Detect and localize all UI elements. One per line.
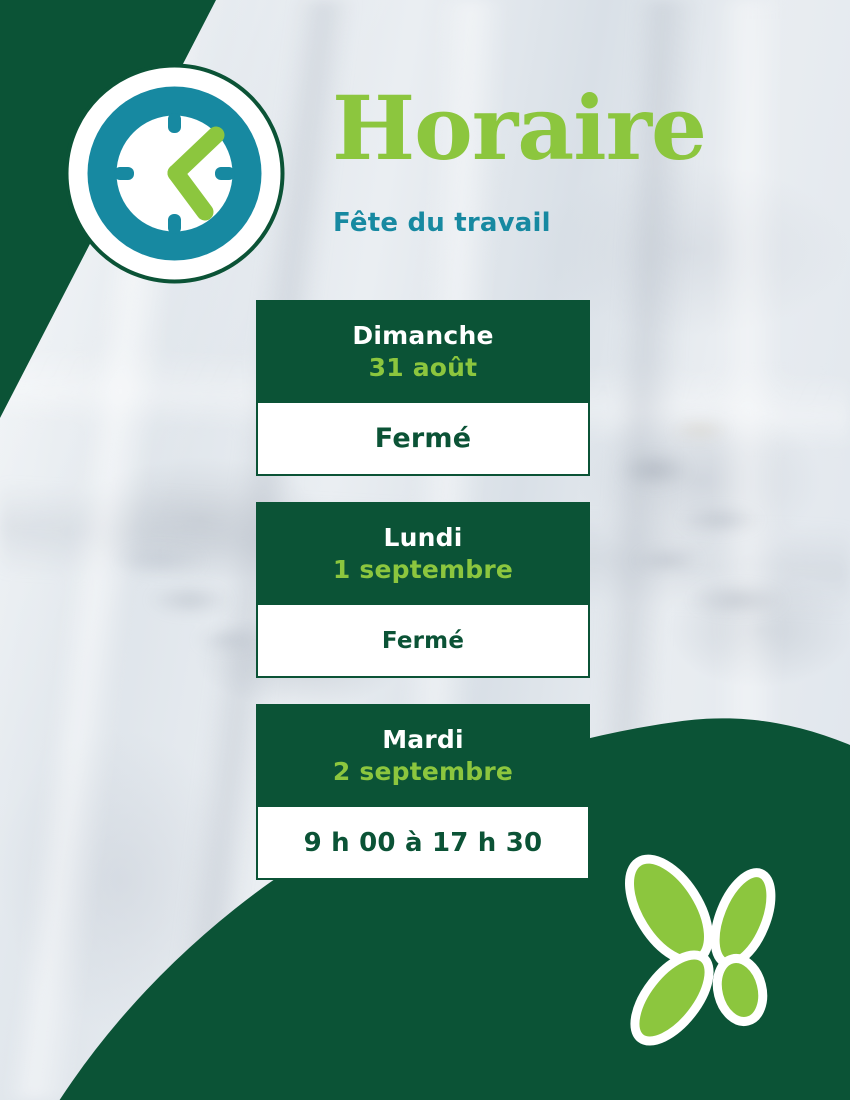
butterfly-logo-icon — [617, 853, 797, 1053]
schedule-card-header: Dimanche 31 août — [256, 300, 590, 403]
schedule-date-label: 2 septembre — [266, 756, 580, 789]
page-title: Horaire — [332, 82, 706, 174]
schedule-day-label: Lundi — [266, 523, 580, 554]
page-subtitle: Fête du travail — [333, 208, 551, 238]
schedule-hours-value: Fermé — [256, 605, 590, 678]
schedule-card-header: Lundi 1 septembre — [256, 502, 590, 605]
schedule-card: Mardi 2 septembre 9 h 00 à 17 h 30 — [256, 704, 590, 880]
schedule-card-header: Mardi 2 septembre — [256, 704, 590, 807]
schedule-poster: Horaire Fête du travail Dimanche 31 août… — [0, 0, 850, 1100]
schedule-day-label: Dimanche — [266, 321, 580, 352]
schedule-card: Lundi 1 septembre Fermé — [256, 502, 590, 678]
schedule-card-list: Dimanche 31 août Fermé Lundi 1 septembre… — [256, 300, 590, 880]
clock-icon — [64, 63, 285, 284]
schedule-card: Dimanche 31 août Fermé — [256, 300, 590, 476]
schedule-day-label: Mardi — [266, 725, 580, 756]
schedule-hours-value: Fermé — [256, 403, 590, 476]
schedule-date-label: 1 septembre — [266, 554, 580, 587]
schedule-date-label: 31 août — [266, 352, 580, 385]
schedule-hours-value: 9 h 00 à 17 h 30 — [256, 807, 590, 880]
